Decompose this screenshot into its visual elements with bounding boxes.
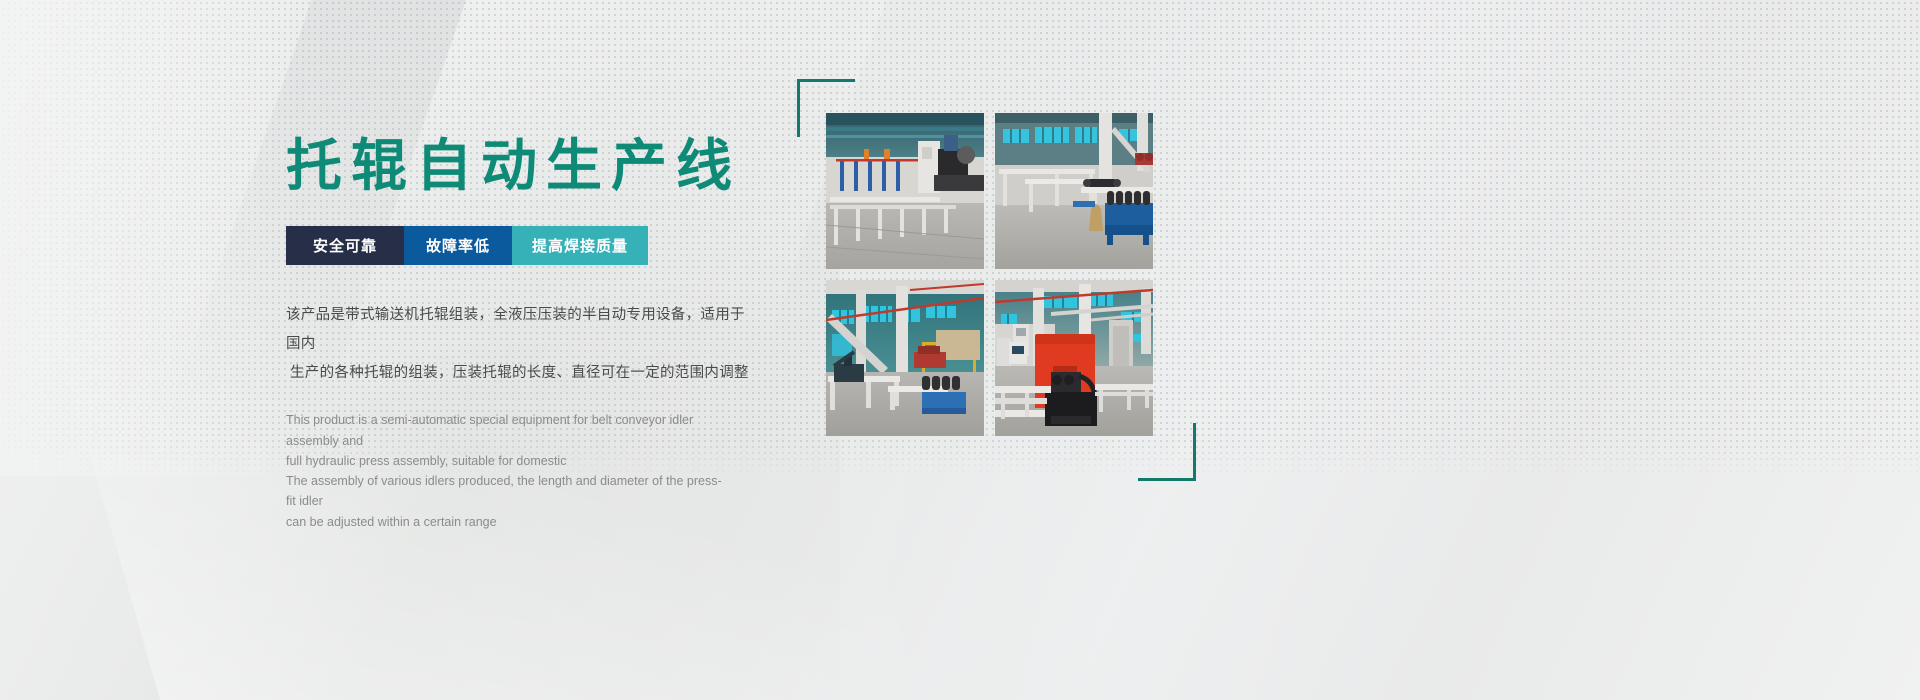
feature-badge-safety[interactable]: 安全可靠 [286,226,404,265]
description-chinese: 该产品是带式输送机托辊组装，全液压压装的半自动专用设备，适用于国内 生产的各种托… [286,301,756,388]
gallery-photo-1[interactable] [826,113,984,269]
description-english-paragraph-1: This product is a semi-automatic special… [286,410,726,471]
corner-bracket-bottom-right-icon [1138,423,1196,481]
gallery-photo-2[interactable] [995,113,1153,269]
red-hydraulic-press-photo [995,280,1153,436]
description-english-p1-line-2: full hydraulic press assembly, suitable … [286,451,726,471]
photo-grid [826,113,1153,438]
dot-texture-left-fade [0,0,300,476]
roller-conveyor-line-photo [826,113,984,269]
feature-badge-weld-quality[interactable]: 提高焊接质量 [512,226,648,265]
feature-badge-label: 故障率低 [426,235,490,256]
feature-badge-label: 提高焊接质量 [532,235,628,256]
workbench-with-idler-rollers-photo [995,113,1153,269]
feature-badge-label: 安全可靠 [313,235,377,256]
description-english-p2-line-2: can be adjusted within a certain range [286,512,726,532]
description-english-p2-line-1: The assembly of various idlers produced,… [286,471,726,512]
product-banner: 托辊自动生产线 安全可靠 故障率低 提高焊接质量 该产品是带式输送机托辊组装，全… [0,0,1920,700]
description-english-p1-line-1: This product is a semi-automatic special… [286,410,726,451]
description-english-paragraph-2: The assembly of various idlers produced,… [286,471,726,532]
welding-station-photo [826,280,984,436]
feature-badge-low-failure[interactable]: 故障率低 [404,226,512,265]
description-chinese-line-1: 该产品是带式输送机托辊组装，全液压压装的半自动专用设备，适用于国内 [286,301,756,359]
description-english: This product is a semi-automatic special… [286,410,726,532]
gallery-photo-3[interactable] [826,280,984,436]
description-chinese-line-2: 生产的各种托辊的组装，压装托辊的长度、直径可在一定的范围内调整 [286,359,756,388]
gallery-photo-4[interactable] [995,280,1153,436]
photo-gallery [797,79,1200,485]
